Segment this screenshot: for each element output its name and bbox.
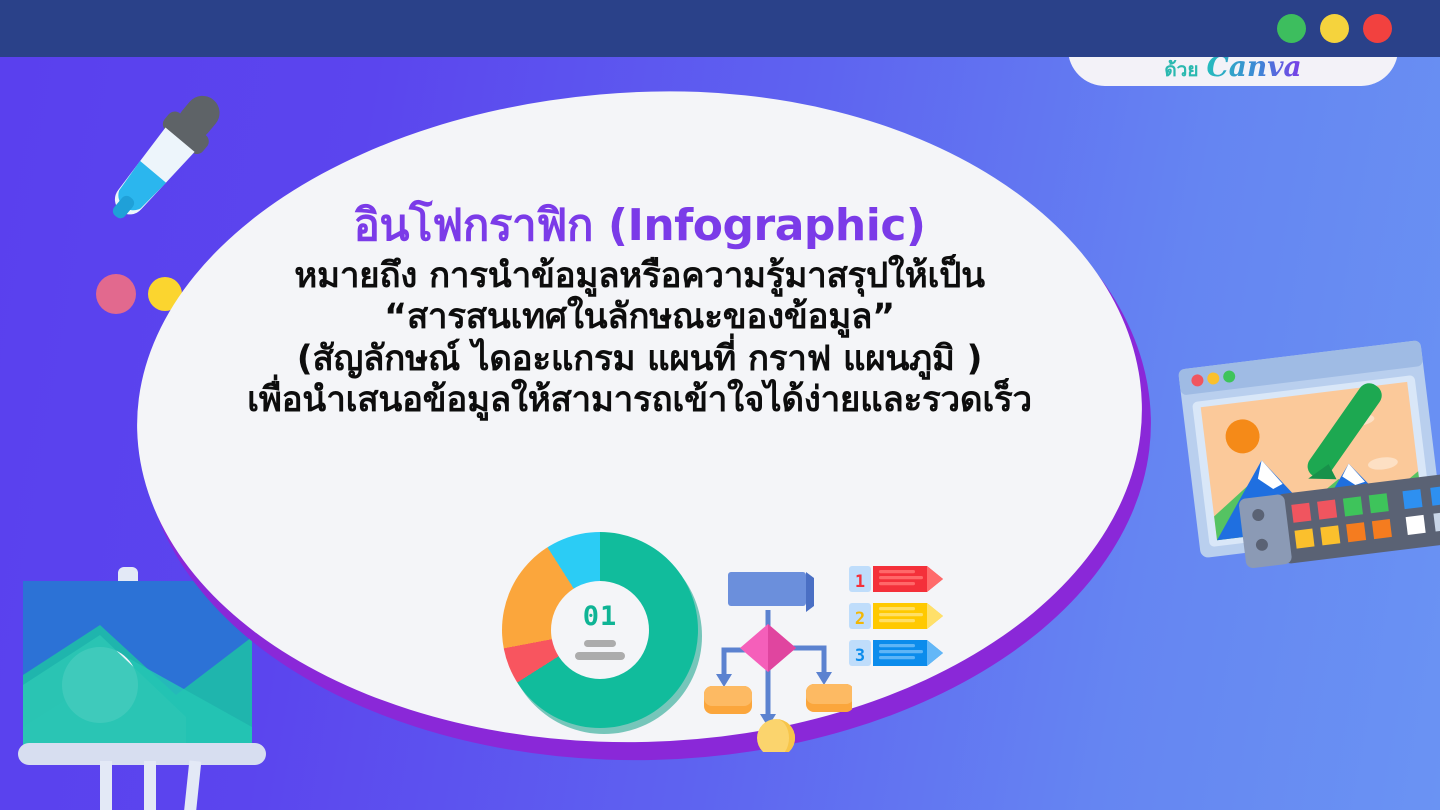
donut-center: 01 <box>551 581 649 679</box>
tablet-illustration <box>1175 332 1440 567</box>
arrow-item-2: 2 <box>849 603 943 629</box>
window-titlebar <box>0 0 1440 57</box>
arrow-number-label: 1 <box>855 572 865 592</box>
body-line-4: เพื่อนำเสนอข้อมูลให้สามารถเข้าใจได้ง่ายแ… <box>137 380 1142 421</box>
arrow-number-label: 3 <box>855 646 865 666</box>
close-button[interactable] <box>1363 14 1392 43</box>
pink-dot-icon <box>96 274 136 314</box>
page-title: อินโฟกราฟิก (Infographic) <box>137 200 1142 252</box>
window-controls <box>1277 14 1392 43</box>
numbered-arrow-list: 123 <box>849 562 969 672</box>
arrow-number-label: 2 <box>855 609 865 629</box>
donut-center-label: 01 <box>583 601 618 632</box>
body-line-3: (สัญลักษณ์ ไดอะแกรม แผนที่ กราฟ แผนภูมิ … <box>137 339 1142 380</box>
body-line-2: “สารสนเทศในลักษณะของข้อมูล” <box>137 297 1142 338</box>
body-line-1: หมายถึง การนำข้อมูลหรือความรู้มาสรุปให้เ… <box>137 256 1142 297</box>
flow-node-rect <box>728 572 806 606</box>
donut-chart: 01 <box>502 532 698 728</box>
easel-tray-icon <box>18 743 266 765</box>
flowchart-illustration <box>702 562 842 747</box>
donut-placeholder-bar-small <box>584 640 616 647</box>
flow-node-diamond <box>740 624 796 672</box>
presentation-screen: อินโฟกราฟิก (Infographic) หมายถึง การนำข… <box>0 0 1440 810</box>
minimize-button[interactable] <box>1277 14 1306 43</box>
arrow-item-1: 1 <box>849 566 943 592</box>
maximize-button[interactable] <box>1320 14 1349 43</box>
donut-placeholder-bar-large <box>575 652 625 660</box>
slide-canvas: อินโฟกราฟิก (Infographic) หมายถึง การนำข… <box>0 57 1440 810</box>
badge-duay-text: ด้วย <box>1164 55 1198 85</box>
arrow-item-3: 3 <box>849 640 943 666</box>
slide-text-block: อินโฟกราฟิก (Infographic) หมายถึง การนำข… <box>137 200 1142 421</box>
